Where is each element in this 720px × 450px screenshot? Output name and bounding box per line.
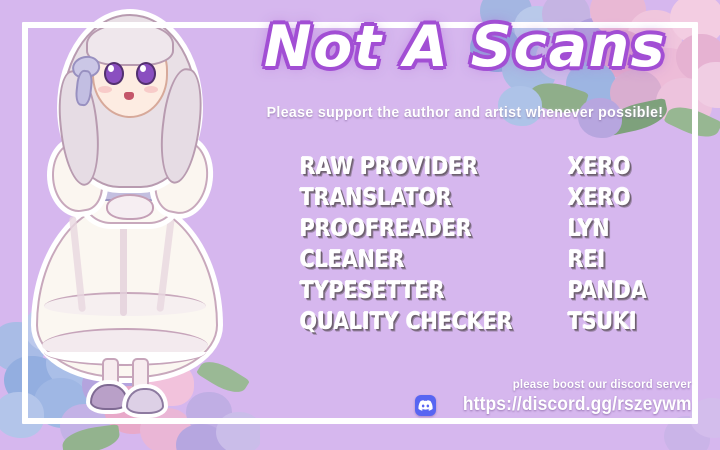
credit-role: PROOFREADER: [300, 214, 472, 245]
credit-role: RAW PROVIDER: [300, 152, 478, 183]
credit-name: XERO: [568, 152, 631, 183]
credit-role: QUALITY CHECKER: [300, 307, 513, 338]
credit-row: PROOFREADER LYN: [300, 214, 670, 245]
credits-page: Not A Scans Please support the author an…: [0, 0, 720, 450]
credit-row: TYPESETTER PANDA: [300, 276, 670, 307]
page-title: Not A Scans: [240, 13, 690, 81]
discord-url[interactable]: https://discord.gg/rszeywm: [463, 394, 692, 416]
credit-name: TSUKI: [568, 307, 637, 338]
discord-block: please boost our discord server https://…: [415, 377, 692, 416]
discord-tagline: please boost our discord server: [429, 377, 692, 391]
support-subtitle: Please support the author and artist whe…: [244, 104, 686, 121]
credit-role: TYPESETTER: [300, 276, 445, 307]
credits-list: RAW PROVIDER XERO TRANSLATOR XERO PROOFR…: [300, 152, 670, 338]
credit-name: PANDA: [568, 276, 647, 307]
credit-name: REI: [568, 245, 605, 276]
credit-name: XERO: [568, 183, 631, 214]
discord-icon[interactable]: [415, 395, 436, 416]
credit-row: CLEANER REI: [300, 245, 670, 276]
credit-role: TRANSLATOR: [300, 183, 452, 214]
credit-row: TRANSLATOR XERO: [300, 183, 670, 214]
discord-link-row[interactable]: https://discord.gg/rszeywm: [415, 394, 692, 416]
credit-row: QUALITY CHECKER TSUKI: [300, 307, 670, 338]
credit-row: RAW PROVIDER XERO: [300, 152, 670, 183]
credit-name: LYN: [568, 214, 610, 245]
credit-role: CLEANER: [300, 245, 405, 276]
